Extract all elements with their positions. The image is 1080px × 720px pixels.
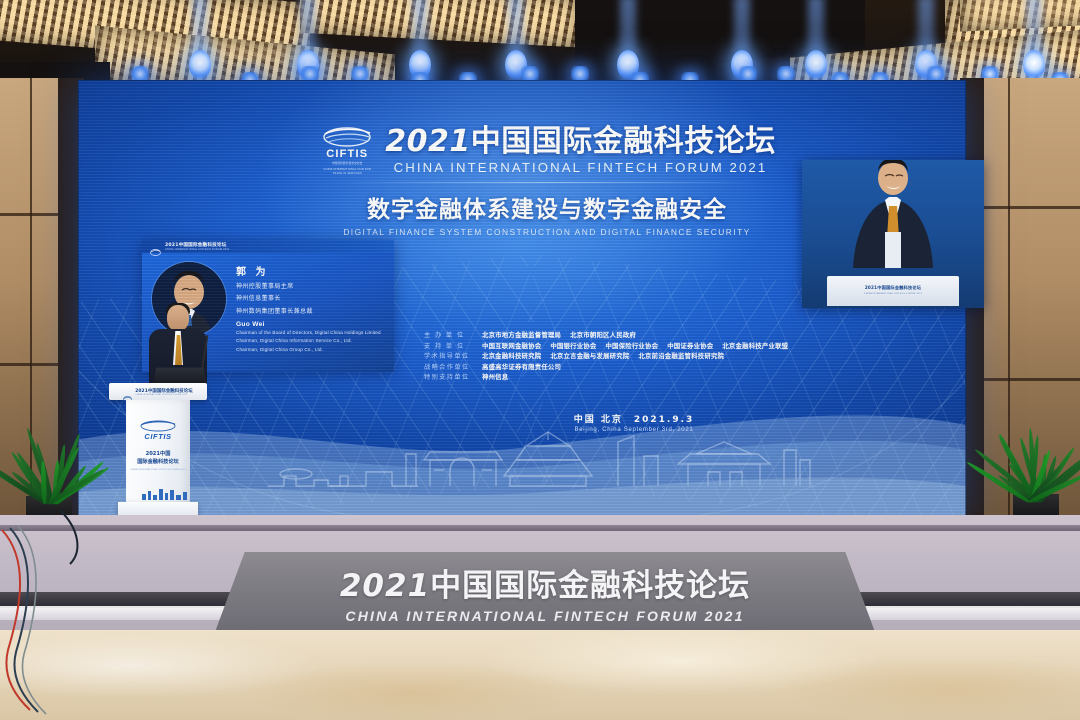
globe-wing-icon [123,389,132,395]
speaker-head [167,305,189,331]
screen-subtitle-en: DIGITAL FINANCE SYSTEM CONSTRUCTION AND … [332,227,762,237]
banner-year: 2021 [340,568,430,604]
event-date-cn: 中国 北京 2021.9.3 [424,412,844,425]
event-date-block: 中国 北京 2021.9.3 Beijing, China September … [424,412,844,433]
ciftis-sub-cn: 中国国际服务贸易交易会 [318,162,376,166]
globe-wing-icon [321,126,373,148]
podium-nameplate-cn: 2021中国国际金融科技论坛 [135,388,193,394]
screen-title-en: CHINA INTERNATIONAL FINTECH FORUM 2021 [385,160,776,175]
screen-title-year: 2021 [385,124,471,159]
potted-palm-icon [996,408,1076,520]
organizer-list: 主 办 单 位北京市地方金融监督管理局北京市朝阳区人民政府支 持 单 位中国互联… [424,330,844,383]
organizer-name: 中国证券业协会 [667,341,713,350]
screen-subtitle-cn: 数字金融体系建设与数字金融安全 [332,190,762,224]
banner-title-cn-text: 中国国际金融科技论坛 [430,568,750,604]
speaker-titles-cn: 神州控股董事局主席神州信息董事长神州数码集团董事长兼总裁 [236,281,381,314]
stage-speaker-figure [143,305,213,391]
ciftis-wordmark: CIFTIS [318,149,376,160]
podium-logo-block: CIFTIS 2021中国 国际金融科技论坛 CHINA INTERNATION… [126,400,190,471]
organizer-row-label: 主 办 单 位 [424,330,482,339]
organizer-row: 战略合作单位高盛高华证券有限责任公司 [424,362,844,371]
speaker-name-en: Guo Wei [236,321,381,328]
stage-light-icon [189,50,211,80]
screen-title-cn: 2021中国国际金融科技论坛 [385,127,776,158]
laptop-icon [154,368,207,384]
speaker-name-cn: 郭 为 [236,263,381,278]
organizer-row-values: 北京金融科技研究院北京立言金融与发展研究院北京前沿金融监管科技研究院 [482,351,724,360]
front-stage-banner: 2021中国国际金融科技论坛 CHINA INTERNATIONAL FINTE… [215,552,875,632]
headline-divider [336,182,758,183]
organizer-row: 支 持 单 位中国互联网金融协会中国银行业协会中国保险行业协会中国证券业协会北京… [424,341,844,350]
feed-podium: 2021中国国际金融科技论坛 CHINA INTERNATIONAL FINTE… [827,276,958,306]
podium-face-en: CHINA INTERNATIONAL FINTECH FORUM 2021 [126,469,190,471]
feed-speaker-figure [833,160,953,268]
banner-title-cn: 2021中国国际金融科技论坛 [340,560,750,605]
beijing-skyline-icon [140,487,192,500]
podium-face-cn-1: 2021中国 [126,451,190,459]
speaker-title-en: Chairman, Digital China Information Serv… [236,338,381,344]
stage-light-icon [805,50,827,80]
podium-column: CIFTIS 2021中国 国际金融科技论坛 CHINA INTERNATION… [126,400,190,504]
speaker-title-en: Chairman of the Board of Directors, Digi… [236,330,381,336]
organizer-row-label: 支 持 单 位 [424,341,482,350]
speaker-card-header: 2021中国国际金融科技论坛 CHINA INTERNATIONAL FINTE… [142,240,394,253]
organizer-name: 北京前沿金融监管科技研究院 [638,351,724,360]
organizer-row: 主 办 单 位北京市地方金融监督管理局北京市朝阳区人民政府 [424,330,844,339]
speaker-titles-en: Chairman of the Board of Directors, Digi… [236,330,381,353]
floor-cables [0,500,260,720]
organizer-name: 神州信息 [482,372,508,381]
speaker-title-en: Chairman, Digital China Group Co., Ltd. [236,347,381,353]
ciftis-logo: CIFTIS 中国国际服务贸易交易会 CHINA INTERNATIONAL F… [318,126,376,176]
organizer-name: 高盛高华证券有限责任公司 [482,362,561,371]
organizer-row-values: 北京市地方金融监督管理局北京市朝阳区人民政府 [482,330,636,339]
organizer-name: 北京立言金融与发展研究院 [550,351,629,360]
organizer-name: 中国银行业协会 [550,341,596,350]
speaker-title-cn: 神州控股董事局主席 [236,281,381,290]
organizer-row-values: 中国互联网金融协会中国银行业协会中国保险行业协会中国证券业协会北京金融科技产业联… [482,341,788,350]
conference-stage-photo: CIFTIS 中国国际服务贸易交易会 CHINA INTERNATIONAL F… [0,0,1080,720]
podium-nameplate-en: CHINA INTERNATIONAL FINTECH FORUM 2021 [135,394,193,396]
organizer-row-label: 学术指导单位 [424,351,482,360]
speaker-title-cn: 神州信息董事长 [236,293,381,302]
organizer-name: 中国保险行业协会 [605,341,658,350]
organizer-row: 学术指导单位北京金融科技研究院北京立言金融与发展研究院北京前沿金融监管科技研究院 [424,351,844,360]
organizer-row: 特别支持单位神州信息 [424,372,844,381]
event-date-en: Beijing, China September 3rd, 2021 [424,427,844,433]
screen-title-cn-text: 中国国际金融科技论坛 [471,124,776,159]
speaker-title-cn: 神州数码集团董事长兼总裁 [236,306,381,315]
live-speaker-feed-panel: 2021中国国际金融科技论坛 CHINA INTERNATIONAL FINTE… [802,160,984,308]
stage-light-icon [1023,50,1045,80]
organizer-row-label: 战略合作单位 [424,362,482,371]
organizer-row-values: 神州信息 [482,372,508,381]
ceiling-lattice-panel [300,0,580,47]
screen-headline-block: CIFTIS 中国国际服务贸易交易会 CHINA INTERNATIONAL F… [332,126,762,237]
podium-face-cn-2: 国际金融科技论坛 [126,459,190,467]
speaker-card-header-en: CHINA INTERNATIONAL FINTECH FORUM 2021 [165,248,230,251]
globe-wing-icon [150,243,161,250]
organizer-row-values: 高盛高华证券有限责任公司 [482,362,561,371]
feed-podium-cn: 2021中国国际金融科技论坛 [827,285,958,291]
organizer-name: 北京金融科技研究院 [482,351,541,360]
organizer-name: 北京市朝阳区人民政府 [570,330,636,339]
banner-title-en: CHINA INTERNATIONAL FINTECH FORUM 2021 [345,608,744,624]
podium-nameplate: 2021中国国际金融科技论坛 CHINA INTERNATIONAL FINTE… [109,383,207,400]
ciftis-sub-en: CHINA INTERNATIONAL FAIR FOR TRADE IN SE… [318,168,376,176]
organizer-name: 北京金融科技产业联盟 [722,341,788,350]
podium-ciftis-wordmark: CIFTIS [126,432,190,441]
globe-wing-icon [138,420,178,432]
feed-podium-en: CHINA INTERNATIONAL FINTECH FORUM 2021 [827,293,958,295]
organizer-name: 北京市地方金融监督管理局 [482,330,561,339]
organizer-name: 中国互联网金融协会 [482,341,541,350]
organizer-row-label: 特别支持单位 [424,372,482,381]
